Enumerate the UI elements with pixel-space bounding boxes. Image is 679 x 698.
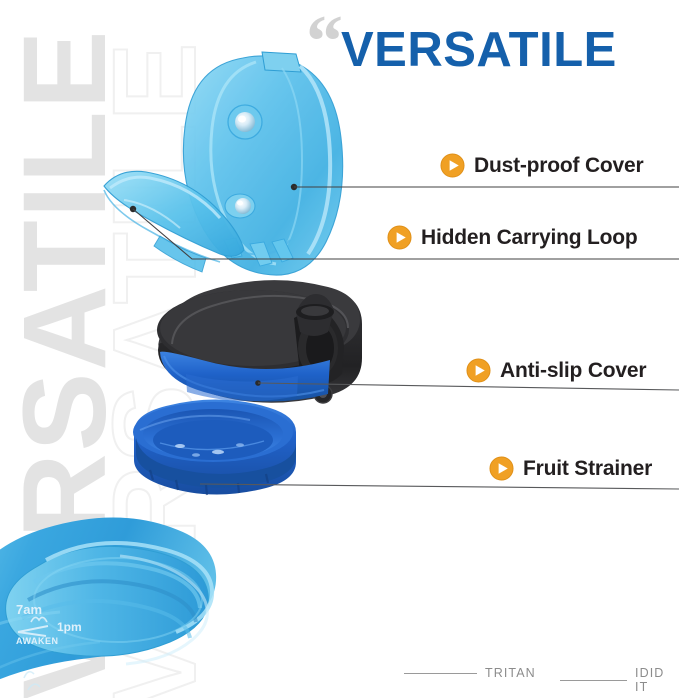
callout-dust-proof-cover[interactable]: Dust-proof Cover (440, 153, 643, 178)
footer-rule (404, 673, 477, 674)
bottle-time-morning-text: 7am (16, 602, 42, 617)
quote-icon: “ (306, 16, 339, 69)
footer-item-idid-it: IDID IT (560, 666, 679, 694)
callout-label-anti-slip-cover: Anti-slip Cover (500, 359, 646, 383)
watermark-outline: VERSATILE (96, 41, 214, 698)
watermark-solid: VERSATILE (6, 29, 124, 698)
part-dust-cover (183, 52, 342, 275)
callout-anti-slip-cover[interactable]: Anti-slip Cover (466, 358, 646, 383)
product-illustration (0, 0, 679, 698)
footer-rule (560, 680, 627, 681)
bottle-time-afternoon-text: 1pm (57, 620, 82, 634)
bottle-motivation-text: AWAKEN (16, 636, 59, 646)
bottle-time-morning: 7am (16, 602, 42, 617)
play-circle-icon[interactable] (466, 358, 491, 383)
leader-line-fruit-strainer (200, 484, 679, 489)
part-carrying-loop (104, 171, 244, 272)
footer: TRITAN IDID IT (0, 662, 679, 686)
callout-label-dust-proof-cover: Dust-proof Cover (474, 154, 643, 178)
part-lid-body (157, 280, 362, 403)
infographic-canvas: VERSATILE VERSATILE (0, 0, 679, 698)
watermark-layer: VERSATILE VERSATILE (0, 0, 679, 698)
callout-hidden-carrying-loop[interactable]: Hidden Carrying Loop (387, 225, 638, 250)
page-title: “ VERSATILE (306, 14, 617, 75)
leader-lines (0, 0, 679, 698)
play-circle-icon[interactable] (489, 456, 514, 481)
play-circle-icon[interactable] (387, 225, 412, 250)
play-circle-icon[interactable] (440, 153, 465, 178)
bottle-time-afternoon: 1pm (57, 620, 82, 634)
footer-label-tritan: TRITAN (485, 666, 536, 680)
part-fruit-strainer (133, 399, 296, 495)
callout-fruit-strainer[interactable]: Fruit Strainer (489, 456, 652, 481)
bottle-motivation-label: AWAKEN (16, 636, 59, 646)
footer-item-tritan: TRITAN (404, 666, 536, 680)
leader-line-dust-proof-cover (291, 184, 679, 190)
callout-label-fruit-strainer: Fruit Strainer (523, 457, 652, 481)
callout-label-hidden-carrying-loop: Hidden Carrying Loop (421, 226, 638, 250)
page-title-text: VERSATILE (341, 26, 617, 75)
footer-label-idid-it: IDID IT (635, 666, 679, 694)
